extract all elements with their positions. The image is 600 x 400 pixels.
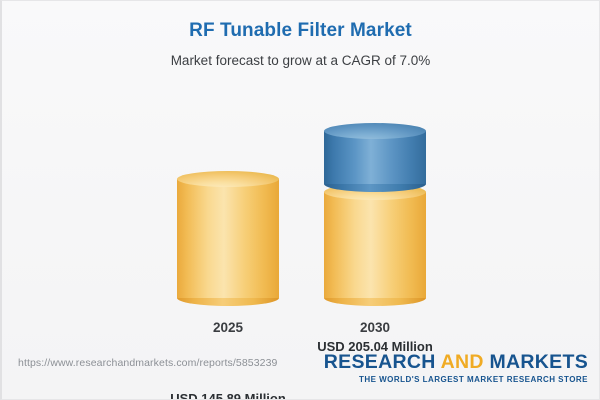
bar-segment-base-2025: [177, 171, 279, 306]
logo-word-and: AND: [441, 351, 484, 373]
bar-cylinder-2025: [177, 171, 279, 306]
bar-cylinder-2030: [324, 123, 426, 306]
chart-plot-area: USD 145.89 Million 2025 USD 205.04 Milli…: [2, 85, 600, 335]
chart-footer: https://www.researchandmarkets.com/repor…: [2, 343, 600, 399]
market-forecast-infographic: RF Tunable Filter Market Market forecast…: [0, 0, 600, 400]
cylinder-body-2025: [177, 179, 279, 298]
chart-title: RF Tunable Filter Market: [2, 19, 599, 43]
category-label-2030: 2030: [295, 320, 455, 335]
cylinder-top-ellipse-2025: [177, 171, 279, 187]
cylinder-top-ellipse-2030: [324, 123, 426, 139]
bar-segment-growth-2030: [324, 123, 426, 192]
logo-word-markets: MARKETS: [489, 351, 588, 373]
logo-wordmark: RESEARCH AND MARKETS: [324, 351, 588, 373]
bar-segment-base-2030: [324, 184, 426, 306]
chart-subtitle: Market forecast to grow at a CAGR of 7.0…: [2, 51, 599, 71]
category-label-2025: 2025: [148, 320, 308, 335]
source-url[interactable]: https://www.researchandmarkets.com/repor…: [18, 357, 277, 369]
cylinder-body-base-2030: [324, 192, 426, 298]
chart-header: RF Tunable Filter Market Market forecast…: [2, 1, 599, 71]
research-and-markets-logo[interactable]: RESEARCH AND MARKETS THE WORLD'S LARGEST…: [324, 351, 588, 385]
logo-word-research: RESEARCH: [324, 351, 436, 373]
logo-tagline: THE WORLD'S LARGEST MARKET RESEARCH STOR…: [324, 374, 588, 385]
